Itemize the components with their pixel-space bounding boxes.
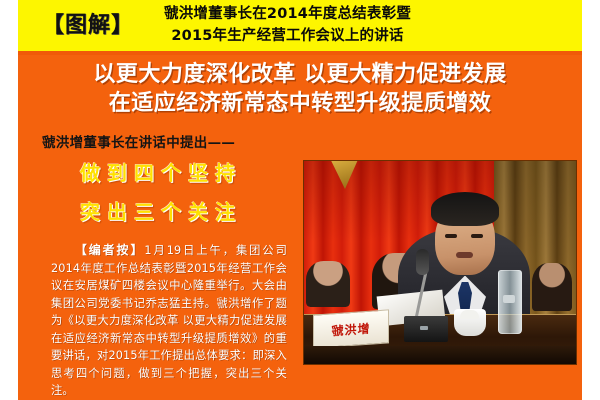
header-divider xyxy=(18,51,582,55)
slogan-group: 做到四个坚持 突出三个关注 xyxy=(36,163,286,241)
body-paragraph: 【编者按】1月19日上午，集团公司2014年度工作总结表彰暨2015年经营工作会… xyxy=(51,241,287,400)
header-band: 【图解】 虢洪增董事长在2014年度总结表彰暨 2015年生产经营工作会议上的讲… xyxy=(18,0,582,51)
speech-photo: 虢洪增 xyxy=(304,161,576,364)
header-title-line1: 虢洪增董事长在2014年度总结表彰暨 xyxy=(164,4,411,25)
podium-base xyxy=(304,346,576,364)
speaker-hair xyxy=(431,192,499,226)
speaker-nameplate: 虢洪增 xyxy=(313,309,389,348)
speaker-mouth xyxy=(456,252,473,258)
speaker-eye-left xyxy=(445,234,457,238)
speech-photo-frame: 虢洪增 xyxy=(303,160,577,365)
microphone-indicator xyxy=(420,326,428,330)
microphone-head-icon xyxy=(416,249,429,275)
seated-attendee-right xyxy=(532,263,572,311)
slogan-item-2: 突出三个关注 xyxy=(36,202,286,222)
poster-canvas: 【图解】 虢洪增董事长在2014年度总结表彰暨 2015年生产经营工作会议上的讲… xyxy=(18,0,582,400)
lead-in-text: 虢洪增董事长在讲话中提出—— xyxy=(42,131,235,151)
water-bottle-cap xyxy=(503,295,515,303)
header-title-line2: 2015年生产经营工作会议上的讲话 xyxy=(164,26,411,47)
headline-line1: 以更大力度深化改革 以更大精力促进发展 xyxy=(18,60,582,89)
body-paragraph-text: 1月19日上午，集团公司2014年度工作总结表彰暨2015年经营工作会议在安居煤… xyxy=(51,244,287,397)
speaker-eye-right xyxy=(471,234,483,238)
headline-line2: 在适应经济新常态中转型升级提质增效 xyxy=(18,89,582,118)
speaker-nameplate-text: 虢洪增 xyxy=(331,319,370,339)
seated-attendee-left xyxy=(306,261,350,307)
poster-root: 【图解】 虢洪增董事长在2014年度总结表彰暨 2015年生产经营工作会议上的讲… xyxy=(0,0,600,400)
tea-cup-lid xyxy=(460,310,479,319)
header-title: 虢洪增董事长在2014年度总结表彰暨 2015年生产经营工作会议上的讲话 xyxy=(164,4,411,46)
main-headline: 以更大力度深化改革 以更大精力促进发展 在适应经济新常态中转型升级提质增效 xyxy=(18,60,582,118)
slogan-item-1: 做到四个坚持 xyxy=(36,163,286,183)
editor-note-tag: 【编者按】 xyxy=(73,243,144,257)
tujie-badge: 【图解】 xyxy=(42,15,134,37)
